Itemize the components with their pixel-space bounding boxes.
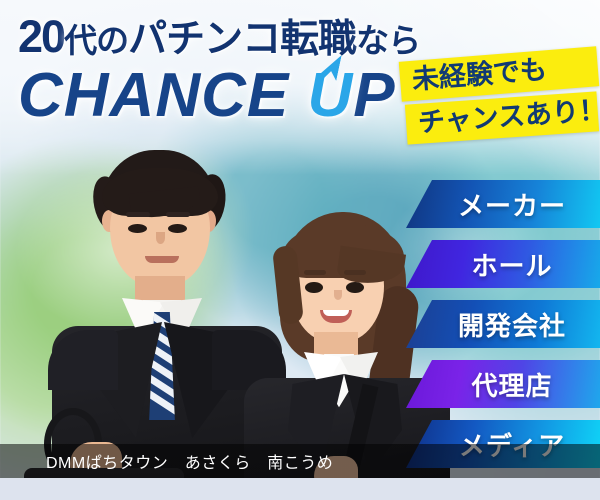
- chance-up-logo: CHANCE UP: [18, 65, 438, 127]
- kicker-number: 20: [18, 11, 64, 62]
- woman-eye-left: [305, 282, 323, 293]
- credit-bar: DMMぱちタウン あさくら 南こうめ: [0, 444, 600, 478]
- woman-nose: [334, 290, 342, 300]
- man-fringe: [102, 168, 218, 216]
- headline-block: 20代のパチンコ転職なら CHANCE UP: [18, 14, 438, 127]
- badge-chance-available: チャンスあり！: [405, 92, 599, 145]
- category-button-hall[interactable]: ホール: [406, 240, 600, 288]
- kicker-rest: 代の: [64, 22, 128, 59]
- woman-brow-left: [304, 270, 326, 275]
- category-list: メーカー ホール 開発会社 代理店 メディア: [406, 180, 600, 480]
- category-label-maker: メーカー: [440, 186, 566, 223]
- logo-p-letter: P: [353, 61, 395, 130]
- woman-fringe: [282, 224, 404, 278]
- man-eye-right: [168, 224, 187, 233]
- woman-brow-right: [344, 270, 366, 275]
- logo-u-letter: U: [307, 61, 353, 130]
- man-eye-left: [128, 224, 147, 233]
- highlight-badges: 未経験でも チャンスあり！: [398, 54, 598, 138]
- category-button-agency[interactable]: 代理店: [406, 360, 600, 408]
- footer-strip: [0, 478, 600, 500]
- pachinko-job-banner: 20代のパチンコ転職なら CHANCE UP 未経験でも チャンスあり！ メーカ…: [0, 0, 600, 500]
- category-label-agency: 代理店: [453, 366, 552, 403]
- headline-kicker: 20代のパチンコ転職なら: [18, 14, 438, 59]
- man-nose: [156, 232, 165, 244]
- category-label-development-company: 開発会社: [440, 306, 566, 343]
- category-label-hall: ホール: [453, 246, 552, 283]
- category-button-development-company[interactable]: 開発会社: [406, 300, 600, 348]
- logo-chance-text: CHANCE: [18, 61, 307, 130]
- category-button-maker[interactable]: メーカー: [406, 180, 600, 228]
- kicker-mid: パチンコ転職: [128, 18, 356, 61]
- man-brow-right: [166, 212, 190, 217]
- man-brow-left: [126, 212, 150, 217]
- man-mouth: [145, 256, 179, 263]
- credit-text: DMMぱちタウン あさくら 南こうめ: [46, 449, 333, 473]
- woman-eye-right: [346, 282, 364, 293]
